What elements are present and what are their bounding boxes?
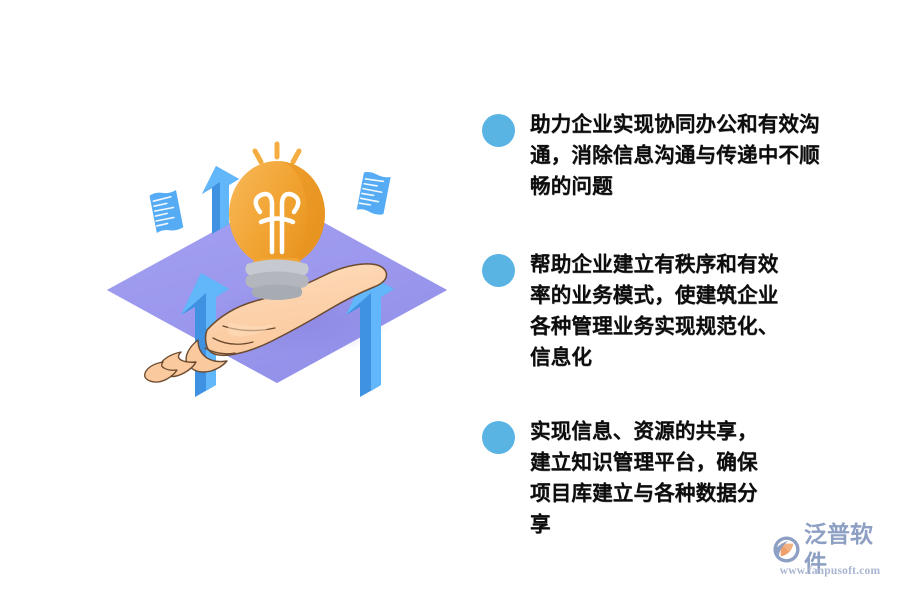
slide-root: 助力企业实现协同办公和有效沟 通，消除信息沟通与传递中不顺 畅的问题 帮助企业建… [0, 0, 900, 600]
bullet-marker-1 [478, 108, 530, 152]
bullet-marker-2 [478, 248, 530, 292]
bullet-dot-icon [482, 114, 515, 147]
hand-holding-lightbulb-illustration [95, 140, 460, 415]
bullet-text-2: 帮助企业建立有秩序和有效 率的业务模式，使建筑企业 各种管理业务实现规范化、 信… [530, 248, 878, 373]
bulb-spark-rays [255, 144, 299, 162]
bullet-dot-icon [482, 421, 515, 454]
bullet-list: 助力企业实现协同办公和有效沟 通，消除信息沟通与传递中不顺 畅的问题 帮助企业建… [478, 108, 878, 540]
bullet-dot-icon [482, 254, 515, 287]
list-item: 帮助企业建立有秩序和有效 率的业务模式，使建筑企业 各种管理业务实现规范化、 信… [478, 248, 878, 373]
logo-row: 泛普软件 [772, 534, 890, 564]
brand-logo: 泛普软件 www.fanpusoft.com [772, 534, 890, 584]
bullet-text-1: 助力企业实现协同办公和有效沟 通，消除信息沟通与传递中不顺 畅的问题 [530, 108, 878, 202]
list-item: 助力企业实现协同办公和有效沟 通，消除信息沟通与传递中不顺 畅的问题 [478, 108, 878, 202]
logo-url: www.fanpusoft.com [772, 565, 888, 577]
document-paper-right [355, 170, 393, 216]
bulb-base [245, 260, 308, 301]
document-paper-left [149, 190, 183, 234]
fanpu-logo-icon [772, 535, 801, 564]
bullet-marker-3 [478, 415, 530, 459]
